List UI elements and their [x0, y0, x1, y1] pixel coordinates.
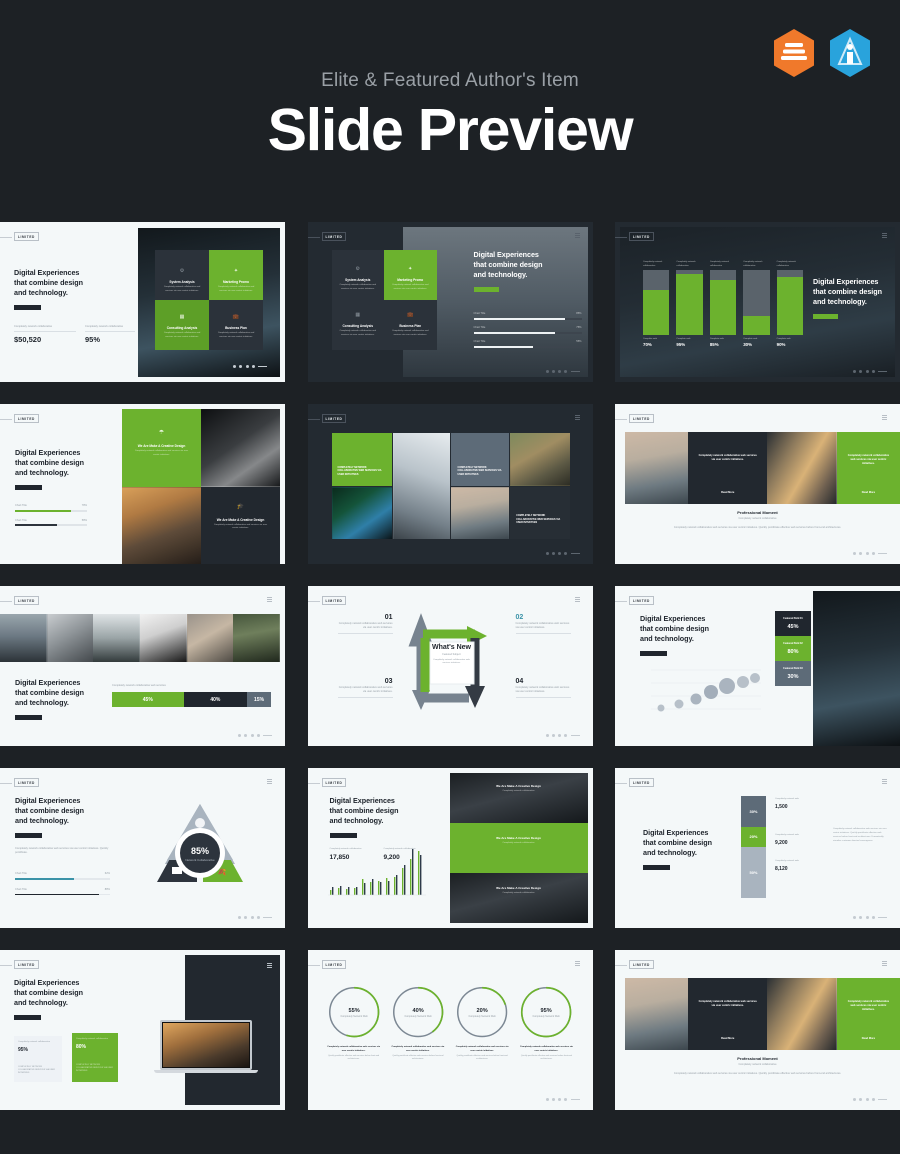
slide-9-headline-l1: Digital Experiences [640, 614, 735, 624]
slide-13-headline-l1: Digital Experiences [14, 978, 109, 988]
slide-12-headline-l2: that combine design [643, 838, 713, 848]
slide-pagination[interactable] [238, 734, 272, 737]
annotation-value: 8,120 [775, 866, 820, 872]
slide-logo: LIMITED [14, 960, 39, 969]
section-title: Professional Moment [655, 1056, 860, 1061]
card-value: 80% [76, 1044, 114, 1050]
panel-dark[interactable]: Completely network collaborative web ser… [688, 978, 767, 1050]
band-subtitle: Completely network collaborative [450, 790, 588, 794]
card-system-analysis[interactable]: ⚙ System Analysis Completely network col… [155, 250, 209, 300]
mosaic-tile-dark[interactable]: COMPLETELY NETWORK COLLABORATIVE WEB SER… [510, 487, 570, 540]
chart-icon: ▦ [155, 314, 209, 320]
page-title: Slide Preview [0, 96, 900, 164]
menu-icon[interactable] [882, 779, 887, 783]
slide-thumbnail-12[interactable]: LIMITED Digital Experiences that combine… [615, 768, 900, 928]
card-body: Completely network collaborative and ser… [337, 330, 380, 337]
panel-button[interactable]: Read More [837, 1037, 900, 1040]
slide-pagination[interactable] [546, 1098, 580, 1101]
panel-photo-bridge[interactable] [625, 432, 688, 504]
band-title: We Are Make A Creative Design [450, 886, 588, 890]
slide-thumbnail-3[interactable]: LIMITED Completely network collaborative… [615, 222, 900, 382]
slide-1-text: Digital Experiences that combine design … [14, 268, 119, 310]
logo-rule [0, 965, 12, 966]
slide-1-stat-2-label: Completely network collaborative [85, 325, 135, 329]
slide-4-button[interactable] [15, 485, 42, 490]
stat-label: Featured Bold 02 [779, 642, 807, 646]
slide-2-button[interactable] [474, 287, 499, 292]
card-consulting-analysis[interactable]: ▦ Consulting Analysis Completely network… [332, 300, 385, 350]
divider [338, 697, 393, 698]
tile-photo-woman[interactable] [201, 409, 280, 487]
donut-caption-title: Completely network collaborative web ser… [390, 1046, 446, 1053]
slide-11-headline-l1: Digital Experiences [330, 796, 422, 806]
donut-chart-1: 55% Completely Network Web [326, 984, 382, 1040]
card-consulting-analysis[interactable]: ▦ Consulting Analysis Completely network… [155, 300, 209, 350]
slide-15-caption: Professional Moment Completely network c… [655, 1056, 860, 1076]
slide-thumbnail-9[interactable]: LIMITED Digital Experiences that combine… [615, 586, 900, 746]
slide-thumbnail-15[interactable]: LIMITED Completely network collaborative… [615, 950, 900, 1110]
slide-11-headline-l3: and technology. [330, 816, 422, 826]
slide-2-headline-l1: Digital Experiences [474, 250, 582, 260]
slide-thumbnail-8[interactable]: LIMITED 01 Completely network collaborat… [308, 586, 593, 746]
panel-button[interactable]: Read More [837, 491, 900, 494]
card-body: Completely network collaborative and ser… [161, 286, 203, 293]
slide-12-text: Digital Experiences that combine design … [643, 828, 713, 870]
donut-item-3: 20% Completely Network Web Completely ne… [454, 984, 510, 1062]
panel-text: Completely network collaborative web ser… [697, 454, 758, 462]
svg-text:Completely Network Web: Completely Network Web [468, 1015, 496, 1018]
stat-block-1: Featured Bold 01 45% [775, 611, 811, 636]
strip-photo-forest[interactable] [93, 614, 140, 662]
slide-thumbnail-5[interactable]: LIMITED COMPLETELY NETWORK COLLABORATIVE… [308, 404, 593, 564]
card-title: Marketing Promo [384, 278, 437, 282]
slide-pagination[interactable] [546, 370, 580, 373]
item-text: Completely network collaborative web ser… [516, 622, 571, 630]
section-subtitle: Completely network collaborative [655, 517, 860, 521]
tile-creative-green[interactable]: ☂ We Are Make A Creative Design Complete… [122, 409, 201, 487]
bar-caption: Completely network collaborative [676, 261, 702, 268]
slide-logo: LIMITED [322, 232, 347, 241]
slide-1-stat-1-label: Completely network collaborative [14, 325, 76, 329]
slide-8-item-04: 04 Completely network collaborative web … [516, 678, 571, 698]
band-title: We Are Make A Creative Design [450, 836, 588, 840]
slide-4-progress-group: Chart Title78% Chart Title58% [15, 504, 87, 526]
bar-value: 88% [105, 888, 110, 892]
stat-value: 30% [779, 674, 807, 680]
bar-value: 85% [576, 312, 581, 316]
slide-4-tiles: ☂ We Are Make A Creative Design Complete… [122, 409, 280, 564]
card-body: Completely network collaborative and ser… [389, 284, 432, 291]
briefcase-icon: 💼 [209, 314, 263, 320]
card-body: Completely network collaborative and ser… [389, 330, 432, 337]
laptop-screen-image [163, 1023, 249, 1067]
slide-9-stat-blocks: Featured Bold 01 45% Featured Bold 02 80… [775, 611, 811, 686]
slide-10-body: Completely network collaborative web ser… [15, 847, 115, 856]
card-value: 95% [18, 1047, 58, 1053]
slide-thumbnail-2[interactable]: LIMITED ⚙ System Analysis Completely net… [308, 222, 593, 382]
card-title: Marketing Promo [209, 280, 263, 284]
logo-rule [0, 783, 12, 784]
tile-creative-dark[interactable]: 🎓 We Are Make A Creative Design Complete… [201, 487, 280, 565]
graduation-icon: 🎓 [201, 503, 280, 510]
tile-photo-sunset[interactable] [122, 487, 201, 565]
slide-10-headline-l3: and technology. [15, 816, 115, 826]
panel-button[interactable]: Read More [688, 1037, 767, 1040]
slide-8-item-01: 01 Completely network collaborative web … [338, 614, 393, 634]
slide-pagination[interactable] [238, 916, 272, 919]
section-title: Professional Moment [655, 510, 860, 515]
item-number: 03 [338, 678, 393, 685]
bar-label: Chart Title [474, 326, 486, 330]
slide-logo: LIMITED [322, 960, 347, 969]
slide-1-stat-2: Completely network collaborative 95% [85, 325, 135, 344]
rocket-icon: ✦ [384, 266, 437, 272]
slide-pagination[interactable] [853, 1098, 887, 1101]
slide-thumbnail-6[interactable]: LIMITED Completely network collaborative… [615, 404, 900, 564]
center-subtitle: Featured Subject [430, 653, 474, 657]
divider [516, 697, 571, 698]
card-title: Consulting Analysis [155, 326, 209, 330]
slide-13-card-green[interactable]: Completely network collaborative 80% COM… [72, 1033, 118, 1082]
svg-text:Completely Network Web: Completely Network Web [533, 1015, 561, 1018]
slide-thumbnail-4[interactable]: LIMITED Digital Experiences that combine… [0, 404, 285, 564]
slide-9-button[interactable] [640, 651, 667, 656]
slide-12-annotation-1: Completely network web 1,500 [775, 798, 820, 810]
slide-14-donuts: 55% Completely Network Web Completely ne… [326, 984, 575, 1062]
laptop-screen [160, 1020, 252, 1070]
slide-12-body: Completely network collaborative web ser… [833, 828, 888, 844]
slide-logo: LIMITED [322, 596, 347, 605]
slide-pagination[interactable] [233, 365, 267, 368]
annotation-label: Completely network web [775, 860, 820, 864]
card-body: COMPLETELY NETWORK COLLABORATIVE SERVICE… [18, 1066, 58, 1076]
slide-1-button[interactable] [14, 305, 41, 310]
card-marketing-promo[interactable]: ✦ Marketing Promo Completely network col… [384, 250, 437, 300]
thin-bar-chart [326, 846, 431, 898]
slide-3-headline-l1: Digital Experiences [813, 277, 895, 287]
band-green[interactable]: We Are Make A Creative Design Completely… [450, 823, 588, 873]
slide-9-text: Digital Experiences that combine design … [640, 614, 735, 656]
slide-logo: LIMITED [322, 778, 347, 787]
mosaic-tile-bridge[interactable] [451, 487, 509, 540]
menu-icon[interactable] [267, 597, 272, 601]
slide-13-card-light[interactable]: Completely network collaborative 95% COM… [14, 1036, 62, 1082]
bar-caption: Completely network collaborative [777, 261, 803, 268]
gear-icon: ⚙ [155, 268, 209, 274]
menu-icon[interactable] [267, 779, 272, 783]
item-text: Completely network collaborative web ser… [516, 686, 571, 694]
svg-text:Completely Network Web: Completely Network Web [404, 1015, 432, 1018]
slide-logo: LIMITED [14, 232, 39, 241]
logo-rule [615, 783, 627, 784]
slide-9-photo [813, 591, 900, 746]
stat-label: Featured Bold 01 [779, 617, 807, 621]
donut-chart-2: 40% Completely Network Web [390, 984, 446, 1040]
slide-7-chart: Completely network collaborative web ser… [112, 684, 271, 707]
slide-3-headline-l2: that combine design [813, 287, 895, 297]
slide-6-panels: Completely network collaborative web ser… [625, 432, 900, 504]
annotation-value: 9,200 [775, 840, 820, 846]
laptop-mockup [160, 1020, 252, 1073]
donut-caption-title: Completely network collaborative web ser… [518, 1046, 574, 1053]
slide-13-button[interactable] [14, 1015, 41, 1020]
slide-7-headline-l2: that combine design [15, 688, 115, 698]
slide-thumbnail-7[interactable]: LIMITED Digital Experiences that combine… [0, 586, 285, 746]
briefcase-icon: 💼 [384, 312, 437, 318]
page-header: Elite & Featured Author's Item Slide Pre… [0, 0, 900, 222]
slide-1-stat-1: Completely network collaborative $50,520 [14, 325, 76, 344]
stat-block-3: Featured Bold 03 30% [775, 661, 811, 686]
divider [85, 331, 135, 332]
slide-4-headline-l1: Digital Experiences [15, 448, 115, 458]
menu-icon[interactable] [882, 415, 887, 419]
bar-value: 70% [643, 342, 669, 347]
bell-icon: ☂ [122, 429, 201, 436]
slide-3-text: Digital Experiences that combine design … [813, 277, 895, 319]
slide-logo: LIMITED [629, 232, 654, 241]
slides-grid: LIMITED Digital Experiences that combine… [0, 222, 900, 1120]
menu-icon[interactable] [882, 961, 887, 965]
tile-body: Completely network collaborative and ser… [211, 524, 270, 531]
slide-thumbnail-14[interactable]: LIMITED 55% Completely Network Web Compl… [308, 950, 593, 1110]
mosaic-tile-green[interactable]: COMPLETELY NETWORK COLLABORATIVE WEB SER… [332, 433, 392, 486]
stacked-segment-2: 20% [741, 827, 766, 847]
slide-preview-page: Elite & Featured Author's Item Slide Pre… [0, 0, 900, 1154]
section-body: Completely network collaborative web ser… [655, 526, 860, 530]
panel-button[interactable]: Read More [688, 491, 767, 494]
bar-caption: Completely network collaborative [643, 261, 669, 268]
slide-13-headline-l2: that combine design [14, 988, 109, 998]
slide-10-text: Digital Experiences that combine design … [15, 796, 115, 856]
gear-icon: ⚙ [332, 266, 385, 272]
slide-2-cards: ⚙ System Analysis Completely network col… [332, 250, 437, 350]
slide-6-caption: Professional Moment Completely network c… [655, 510, 860, 530]
panel-green[interactable]: Completely network collaborative web ser… [837, 432, 900, 504]
slide-4-headline-l2: that combine design [15, 458, 115, 468]
panel-photo-car[interactable] [767, 978, 837, 1050]
slide-pagination[interactable] [546, 552, 580, 555]
slide-4-headline-l3: and technology. [15, 468, 115, 478]
stacked-segment-2: 40% [184, 692, 248, 707]
card-business-plan[interactable]: 💼 Business Plan Completely network colla… [384, 300, 437, 350]
logo-rule [308, 601, 320, 602]
slide-thumbnail-10[interactable]: LIMITED Digital Experiences that combine… [0, 768, 285, 928]
card-system-analysis[interactable]: ⚙ System Analysis Completely network col… [332, 250, 385, 300]
slide-thumbnail-13[interactable]: LIMITED Digital Experiences that combine… [0, 950, 285, 1110]
logo-rule [308, 783, 320, 784]
slide-3-button[interactable] [813, 314, 838, 319]
svg-text:Completely Network Web: Completely Network Web [340, 1015, 368, 1018]
strip-photo-clock[interactable] [47, 614, 94, 662]
band-subtitle: Completely network collaborative [450, 842, 588, 846]
bar-value: 58% [82, 519, 87, 523]
logo-rule [0, 419, 12, 420]
bar-caption: Completely network collaborative [710, 261, 736, 268]
stat-value: 80% [779, 649, 807, 655]
logo-rule [615, 237, 627, 238]
slide-1-stat-1-value: $50,520 [14, 335, 76, 344]
cycle-arrows-diagram [403, 612, 498, 720]
card-marketing-promo[interactable]: ✦ Marketing Promo Completely network col… [209, 250, 263, 300]
slide-2-headline-l3: and technology. [474, 270, 582, 280]
slide-8-item-02: 02 Completely network collaborative web … [516, 614, 571, 634]
logo-rule [308, 419, 320, 420]
svg-text:40%: 40% [412, 1008, 423, 1014]
donut-caption-body: Quickly pontificate effective web servic… [326, 1055, 382, 1061]
page-subtitle: Elite & Featured Author's Item [0, 70, 900, 92]
strip-photo-dog[interactable] [187, 614, 234, 662]
bar-value: 85% [710, 342, 736, 347]
card-title: System Analysis [155, 280, 209, 284]
card-body: Completely network collaborative and ser… [337, 284, 380, 291]
donut-caption-title: Completely network collaborative web ser… [454, 1046, 510, 1053]
svg-text:85%: 85% [191, 846, 209, 856]
slide-logo: LIMITED [629, 960, 654, 969]
mosaic-tile-bike[interactable] [510, 433, 570, 486]
band-dark-2[interactable]: We Are Make A Creative Design Completely… [450, 873, 588, 923]
menu-icon[interactable] [575, 961, 580, 965]
card-business-plan[interactable]: 💼 Business Plan Completely network colla… [209, 300, 263, 350]
slide-11-bands: We Are Make A Creative Design Completely… [450, 773, 588, 923]
slide-7-button[interactable] [15, 715, 42, 720]
slide-13-text: Digital Experiences that combine design … [14, 978, 109, 1020]
annotation-label: Completely network web [775, 834, 820, 838]
slide-11-button[interactable] [330, 833, 357, 838]
stat-value: 45% [779, 624, 807, 630]
donut-chart-3: 20% Completely Network Web [454, 984, 510, 1040]
strip-photo-road[interactable] [233, 614, 280, 662]
menu-icon[interactable] [575, 233, 580, 237]
mosaic-caption: COMPLETELY NETWORK COLLABORATIVE WEB SER… [457, 466, 503, 477]
menu-icon[interactable] [575, 415, 580, 419]
slide-1-headline-l2: that combine design [14, 278, 119, 288]
item-text: Completely network collaborative web ser… [338, 686, 393, 694]
mosaic-tile-tower[interactable] [393, 433, 451, 539]
slide-10-headline-l2: that combine design [15, 806, 115, 816]
donut-caption-title: Completely network collaborative web ser… [326, 1046, 382, 1053]
slide-logo: LIMITED [14, 414, 39, 423]
logo-rule [0, 237, 12, 238]
svg-text:Network Collaborative: Network Collaborative [185, 858, 215, 862]
slide-7-headline-l3: and technology. [15, 698, 115, 708]
slide-12-button[interactable] [643, 865, 670, 870]
center-title: What's New [430, 644, 474, 651]
logo-rule [615, 419, 627, 420]
divider [14, 331, 76, 332]
stat-block-2: Featured Bold 02 80% [775, 636, 811, 661]
slide-1-stat-2-value: 95% [85, 335, 135, 344]
strip-photo-city[interactable] [0, 614, 47, 662]
slide-thumbnail-1[interactable]: LIMITED Digital Experiences that combine… [0, 222, 285, 382]
bar-value: 75% [576, 326, 581, 330]
slide-3-headline-l3: and technology. [813, 297, 895, 307]
card-body: Completely network collaborative and ser… [215, 332, 257, 339]
slide-8-item-03: 03 Completely network collaborative web … [338, 678, 393, 698]
panel-photo-car[interactable] [767, 432, 837, 504]
strip-photo-sketch[interactable] [140, 614, 187, 662]
slide-12-headline-l1: Digital Experiences [643, 828, 713, 838]
slide-7-headline-l1: Digital Experiences [15, 678, 115, 688]
card-body: Completely network collaborative and ser… [161, 332, 203, 339]
mosaic-tile-slate[interactable]: COMPLETELY NETWORK COLLABORATIVE WEB SER… [451, 433, 509, 486]
card-label: Completely network collaborative [18, 1041, 58, 1045]
slide-pagination[interactable] [853, 370, 887, 373]
slide-thumbnail-11[interactable]: LIMITED Digital Experiences that combine… [308, 768, 593, 928]
panel-text: Completely network collaborative web ser… [846, 454, 891, 466]
donut-item-2: 40% Completely Network Web Completely ne… [390, 984, 446, 1062]
stacked-segment-1: 45% [112, 692, 184, 707]
panel-photo-bridge[interactable] [625, 978, 688, 1050]
slide-1-panel: ⚙ System Analysis Completely network col… [138, 228, 280, 377]
slide-7-text: Digital Experiences that combine design … [15, 678, 115, 720]
tile-body: Completely network collaborative and ser… [132, 450, 191, 457]
card-label: Completely network collaborative [76, 1038, 114, 1042]
panel-dark[interactable]: Completely network collaborative web ser… [688, 432, 767, 504]
logo-rule [615, 601, 627, 602]
section-body: Completely network collaborative web ser… [655, 1072, 860, 1076]
donut-caption-body: Quickly pontificate effective web servic… [454, 1055, 510, 1061]
slide-10-progress-group: Chart Title62% Chart Title88% [15, 872, 110, 895]
bar-value: 90% [777, 342, 803, 347]
stacked-segment-3: 15% [247, 692, 271, 707]
slide-7-photo-strip [0, 614, 280, 662]
slide-12-stacked-bar: 30% 20% 50% [741, 796, 766, 898]
donut-caption-body: Quickly pontificate effective web servic… [390, 1055, 446, 1061]
donut-item-1: 55% Completely Network Web Completely ne… [326, 984, 382, 1062]
bar-value: 55% [576, 340, 581, 344]
slide-pagination[interactable] [853, 552, 887, 555]
svg-text:55%: 55% [348, 1008, 359, 1014]
band-subtitle: Completely network collaborative [450, 892, 588, 896]
slide-12-annotation-2: Completely network web 9,200 [775, 834, 820, 846]
band-dark-1[interactable]: We Are Make A Creative Design Completely… [450, 773, 588, 823]
section-subtitle: Completely network collaborative [655, 1063, 860, 1067]
slide-pagination[interactable] [546, 734, 580, 737]
svg-text:95%: 95% [541, 1008, 552, 1014]
panel-text: Completely network collaborative web ser… [846, 1000, 891, 1012]
slide-9-headline-l3: and technology. [640, 634, 735, 644]
slide-logo: LIMITED [14, 778, 39, 787]
slide-logo: LIMITED [629, 596, 654, 605]
bar-value: 30% [743, 342, 769, 347]
slide-10-button[interactable] [15, 833, 42, 838]
stacked-segment-3: 50% [741, 847, 766, 898]
bar-label: Chart Title [474, 340, 486, 344]
rocket-icon: ✦ [209, 268, 263, 274]
donut-item-4: 95% Completely Network Web Completely ne… [518, 984, 574, 1062]
slide-4-text: Digital Experiences that combine design … [15, 448, 115, 490]
mosaic-tile-portrait[interactable] [332, 487, 392, 540]
tile-title: We Are Make A Creative Design [122, 444, 201, 448]
slide-1-headline-l1: Digital Experiences [14, 268, 119, 278]
card-title: Consulting Analysis [332, 324, 385, 328]
slide-pagination[interactable] [853, 916, 887, 919]
menu-icon[interactable] [882, 233, 887, 237]
triangle-infographic: 85% Network Collaborative 🍂 [135, 790, 265, 902]
bar-label: Chart Title [474, 312, 486, 316]
laptop-base [154, 1070, 258, 1073]
bar-label: Chart Title [15, 872, 27, 876]
bar-value: 78% [82, 504, 87, 508]
card-body: Completely network collaborative and ser… [215, 286, 257, 293]
item-number: 02 [516, 614, 571, 621]
panel-green[interactable]: Completely network collaborative web ser… [837, 978, 900, 1050]
center-body: Completely network collaborative web ser… [430, 659, 474, 666]
bar-value: 62% [105, 872, 110, 876]
menu-icon[interactable] [267, 963, 272, 967]
menu-icon[interactable] [575, 597, 580, 601]
slide-12-annotation-3: Completely network web 8,120 [775, 860, 820, 872]
